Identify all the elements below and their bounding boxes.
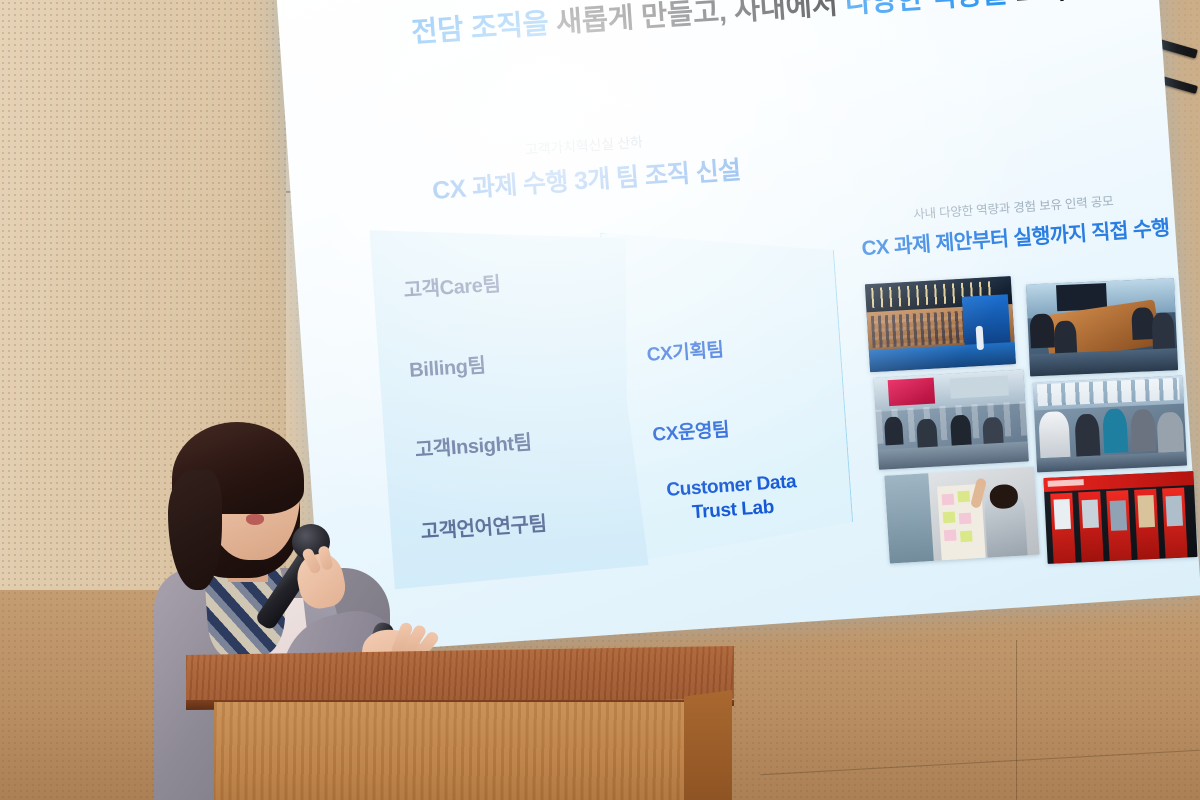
podium-body-woodgrain xyxy=(214,702,684,800)
conference-table-meeting-photo xyxy=(1026,278,1178,376)
classroom-workshop-photo xyxy=(874,369,1029,469)
slide-title: 전담 조직을 새롭게 만들고, 사내에서 다양한 역량을 모아 과제 추진 xyxy=(410,0,1151,53)
left-column-header: 고객가치혁신실 산하 CX 과제 수행 3개 팀 조직 신설 xyxy=(394,123,777,209)
right-column-header: 사내 다양한 역량과 경험 보유 인력 공모 CX 과제 제안부터 실행까지 직… xyxy=(853,186,1176,261)
photo-grid xyxy=(864,258,1200,569)
podium-body xyxy=(214,702,684,800)
sticky-note-wall-photo xyxy=(884,467,1039,564)
wall-seam-lower-vertical xyxy=(1016,640,1017,800)
podium-side-panel xyxy=(684,690,732,800)
org-team-item: Billing팀 xyxy=(408,349,486,383)
org-team-item-label: Customer Data Trust Lab xyxy=(666,471,797,523)
mouth xyxy=(246,514,264,525)
auditorium-townhall-photo xyxy=(865,276,1016,372)
group-discussion-photo xyxy=(1033,376,1187,473)
org-team-item: CX운영팀 xyxy=(651,415,730,447)
org-team-item: Customer Data Trust Lab xyxy=(656,470,809,529)
red-app-screens-photo xyxy=(1043,471,1197,564)
presentation-scene: 전담 조직을 새롭게 만들고, 사내에서 다양한 역량을 모아 과제 추진 고객… xyxy=(0,0,1200,800)
slide-title-highlight-1: 전담 조직을 xyxy=(410,8,549,49)
slide-title-segment-2: 새롭게 만들고, 사내에서 xyxy=(547,0,846,40)
org-team-item: CX기획팀 xyxy=(646,335,725,367)
slide-title-highlight-2: 다양한 역량을 xyxy=(844,0,1009,20)
